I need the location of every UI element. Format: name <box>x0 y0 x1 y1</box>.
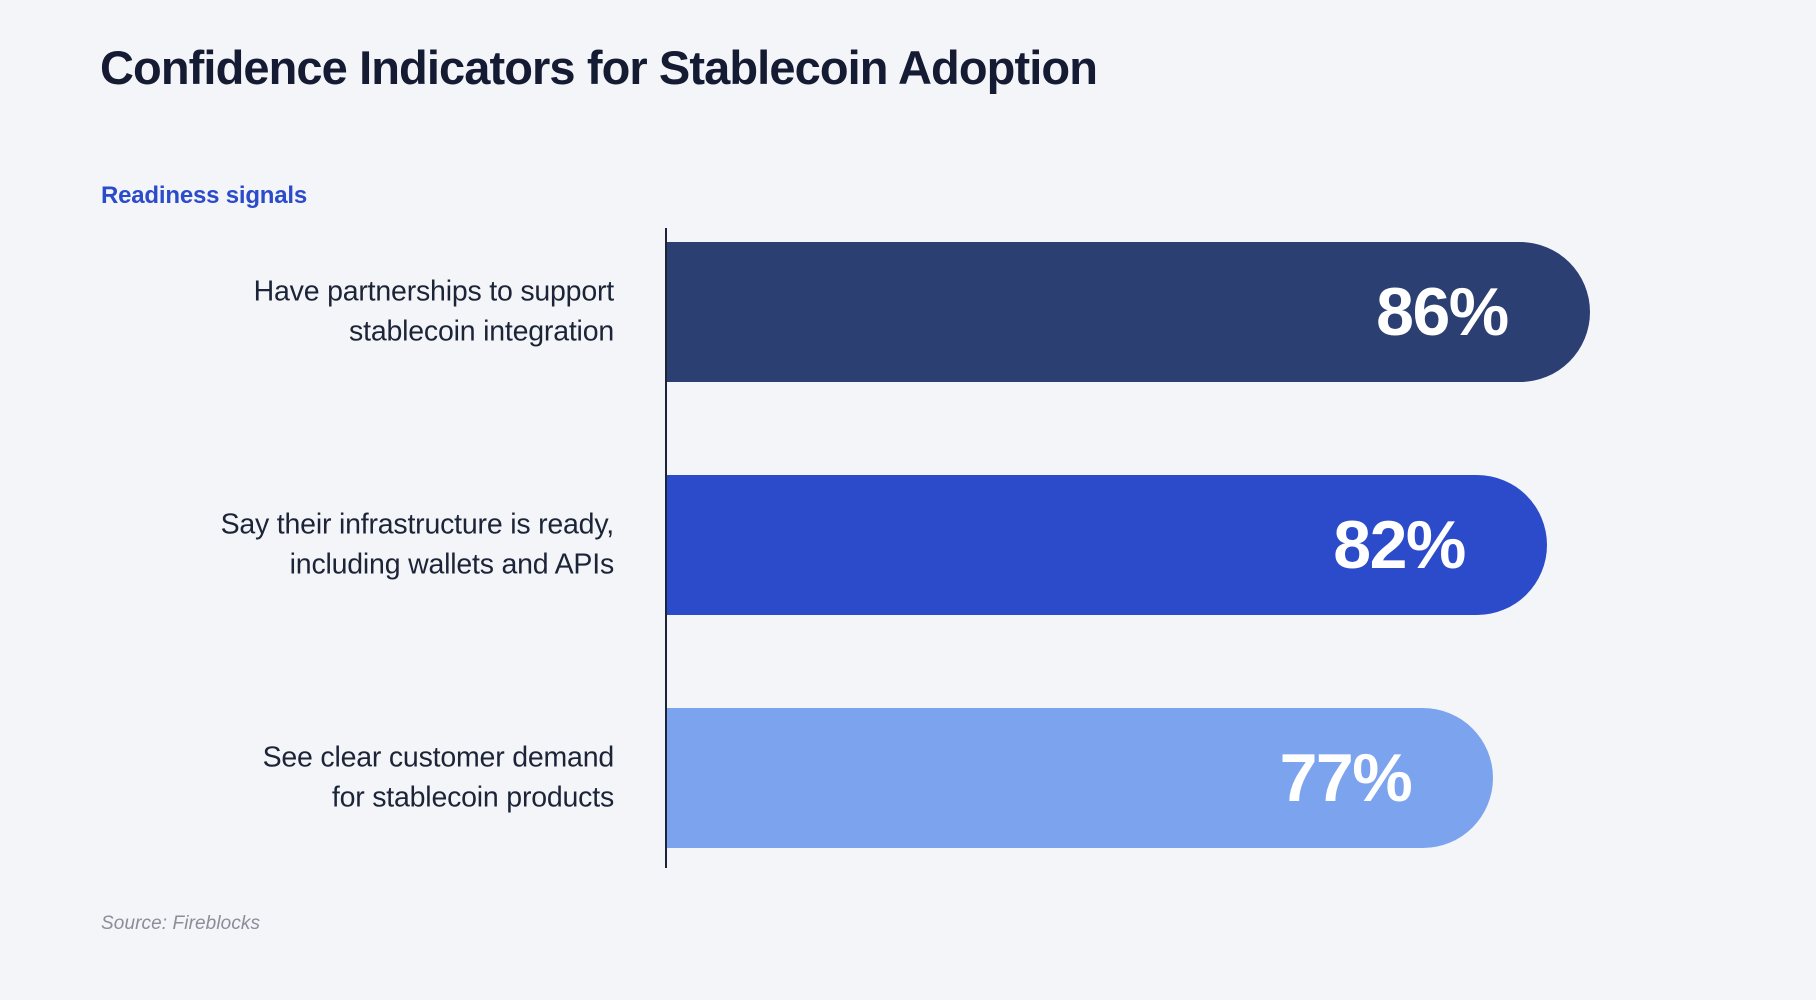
chart-canvas: Confidence Indicators for Stablecoin Ado… <box>0 0 1816 1000</box>
bar-category-label: See clear customer demand for stablecoin… <box>100 738 640 819</box>
chart-subtitle: Readiness signals <box>101 182 307 210</box>
chart-title: Confidence Indicators for Stablecoin Ado… <box>100 42 1600 95</box>
plot-area: Have partnerships to support stablecoin … <box>100 228 1740 868</box>
bar-value-label: 82% <box>1333 511 1547 579</box>
bar-category-label: Have partnerships to support stablecoin … <box>100 272 640 353</box>
bar-track: 82% <box>667 475 1740 615</box>
bar-row: See clear customer demand for stablecoin… <box>100 708 1740 848</box>
bar-row: Have partnerships to support stablecoin … <box>100 242 1740 382</box>
bar-value-label: 86% <box>1376 278 1590 346</box>
bar-row: Say their infrastructure is ready, inclu… <box>100 475 1740 615</box>
bar-value-label: 77% <box>1280 744 1494 812</box>
bar-track: 77% <box>667 708 1740 848</box>
bar-track: 86% <box>667 242 1740 382</box>
bar-infrastructure-ready[interactable]: 82% <box>667 475 1547 615</box>
bar-customer-demand[interactable]: 77% <box>667 708 1493 848</box>
source-note: Source: Fireblocks <box>101 913 260 935</box>
bar-have-partnerships[interactable]: 86% <box>667 242 1590 382</box>
bar-category-label: Say their infrastructure is ready, inclu… <box>100 505 640 586</box>
